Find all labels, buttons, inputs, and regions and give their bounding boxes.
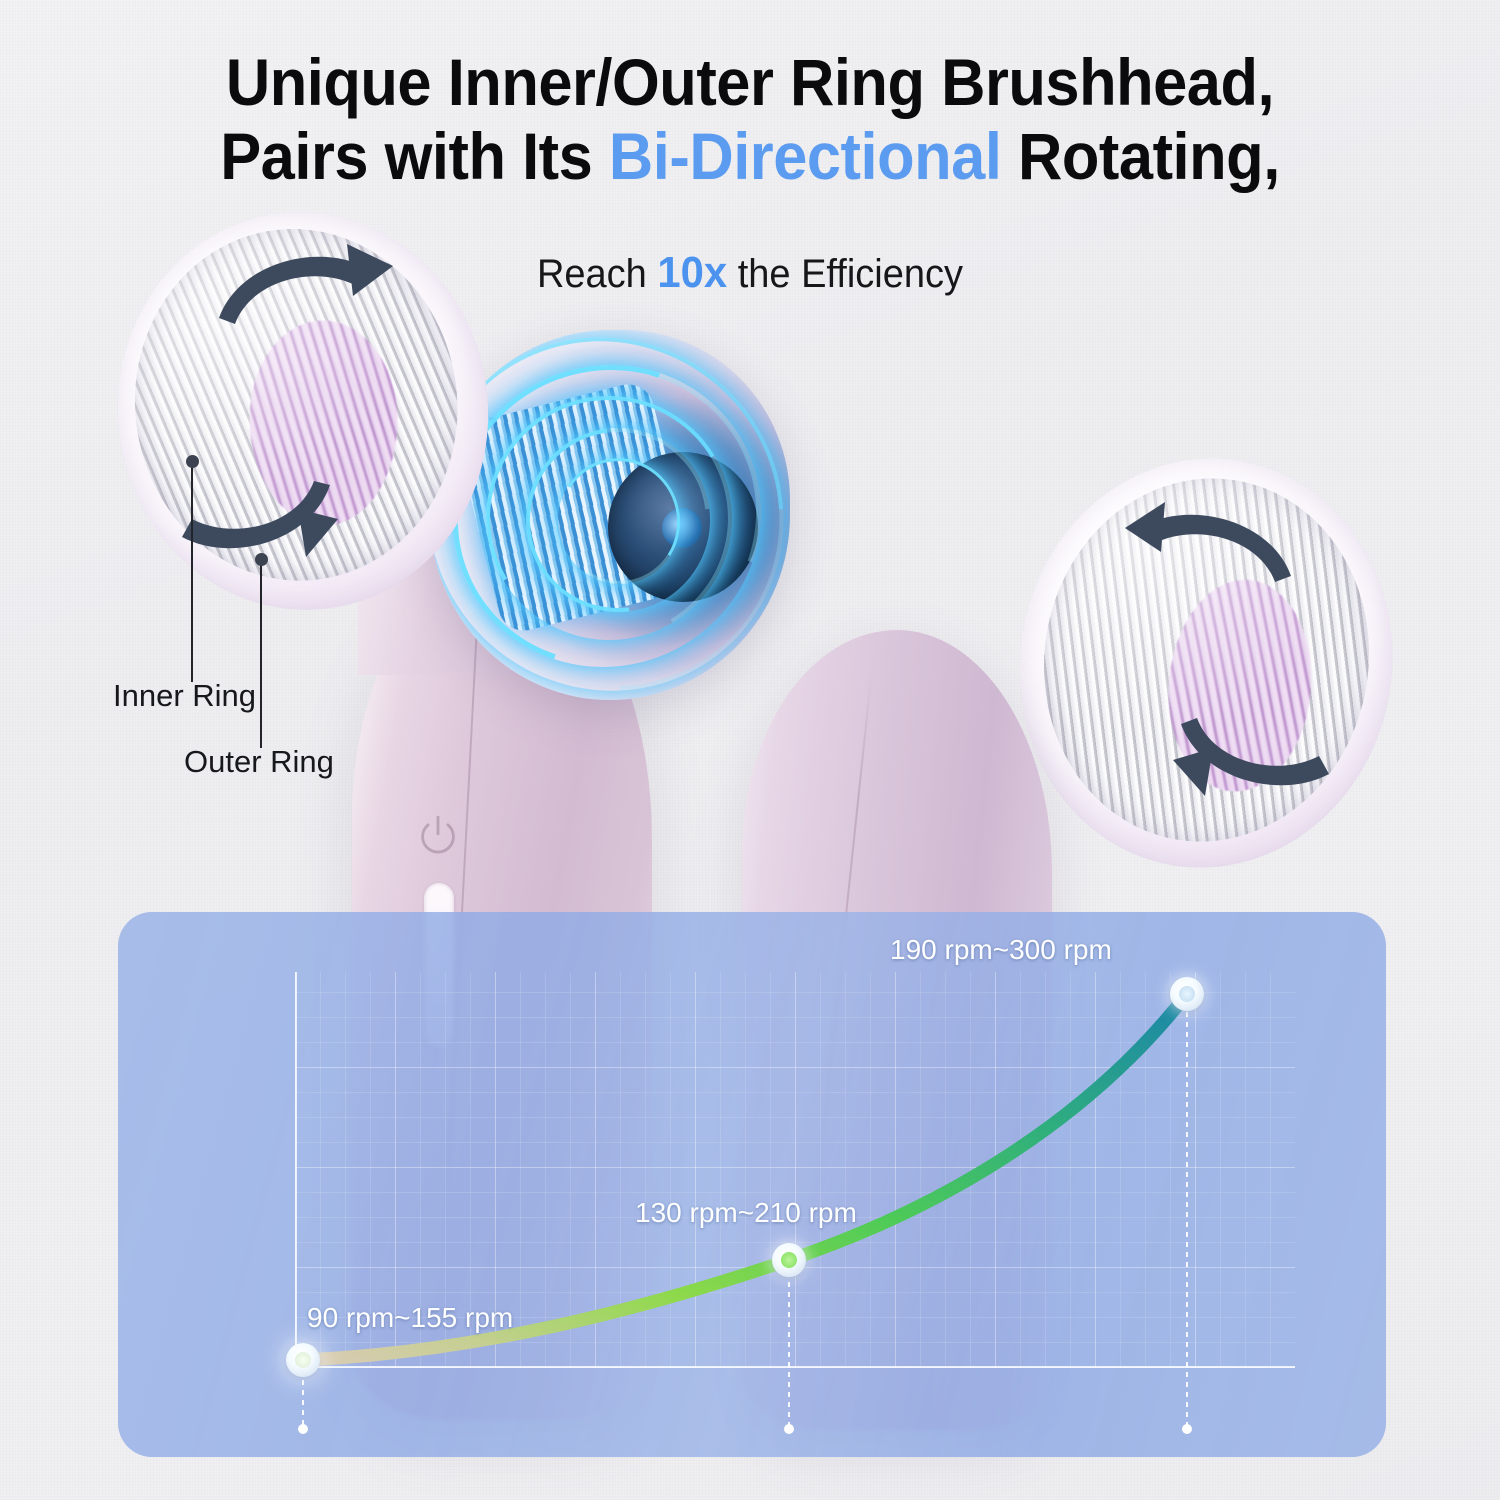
chart-point-medium: [772, 1243, 806, 1277]
chart-value-label-gentle: 90 rpm~155 rpm: [307, 1302, 513, 1334]
speed-chart-panel: 90 rpm~155 rpm 130 rpm~210 rpm 190 rpm~3…: [118, 912, 1386, 1457]
headline-line-2-post: Rotating,: [1001, 119, 1279, 193]
chart-point-core: [1179, 986, 1195, 1002]
chart-xtick-gentle: Gentle: [250, 1455, 356, 1457]
chart-xtick-medium: Medium: [725, 1455, 853, 1457]
callout-anchor-outer-ring: [255, 553, 268, 566]
callout-label-outer-ring: Outer Ring: [184, 744, 334, 780]
chart-plot-area: 90 rpm~155 rpm 130 rpm~210 rpm 190 rpm~3…: [295, 972, 1295, 1368]
chart-stem-medium: [788, 1272, 790, 1426]
chart-value-label-medium: 130 rpm~210 rpm: [635, 1197, 857, 1229]
chart-point-gentle: [286, 1343, 320, 1377]
headline-accent-text: Bi-Directional: [609, 119, 1002, 193]
subtitle-pre: Reach: [537, 252, 657, 296]
rotation-arrow-right-bottom: [1165, 700, 1355, 810]
subtitle: Reach 10x the Efficiency: [38, 248, 1463, 298]
headline-line-2-pre: Pairs with Its: [220, 119, 609, 193]
subtitle-highlight: 10x: [657, 248, 727, 297]
callout-leader-inner-ring: [191, 462, 193, 682]
chart-tick-intensive: [1182, 1424, 1192, 1434]
callout-leader-outer-ring: [260, 560, 262, 748]
headline-line-2: Pairs with Its Bi-Directional Rotating,: [53, 120, 1448, 194]
callout-label-inner-ring: Inner Ring: [113, 678, 256, 714]
subtitle-post: the Efficiency: [727, 252, 963, 296]
rotation-arrow-right-top: [1095, 490, 1305, 600]
headline-line-1: Unique Inner/Outer Ring Brushhead,: [53, 46, 1448, 120]
chart-xtick-intensive: Intensive: [1113, 1455, 1260, 1457]
chart-point-core: [781, 1252, 797, 1268]
power-icon: [416, 815, 460, 859]
page-title: Unique Inner/Outer Ring Brushhead, Pairs…: [0, 46, 1500, 194]
rotation-arrow-left-bottom: [156, 463, 346, 573]
chart-tick-medium: [784, 1424, 794, 1434]
chart-stem-intensive: [1186, 1002, 1188, 1426]
chart-tick-gentle: [298, 1424, 308, 1434]
product-infographic: Inner Ring Outer Ring Unique Inner/Outer…: [0, 0, 1500, 1500]
callout-anchor-inner-ring: [186, 455, 199, 468]
chart-value-label-intensive: 190 rpm~300 rpm: [890, 934, 1112, 966]
chart-point-core: [295, 1352, 311, 1368]
chart-point-intensive: [1170, 977, 1204, 1011]
